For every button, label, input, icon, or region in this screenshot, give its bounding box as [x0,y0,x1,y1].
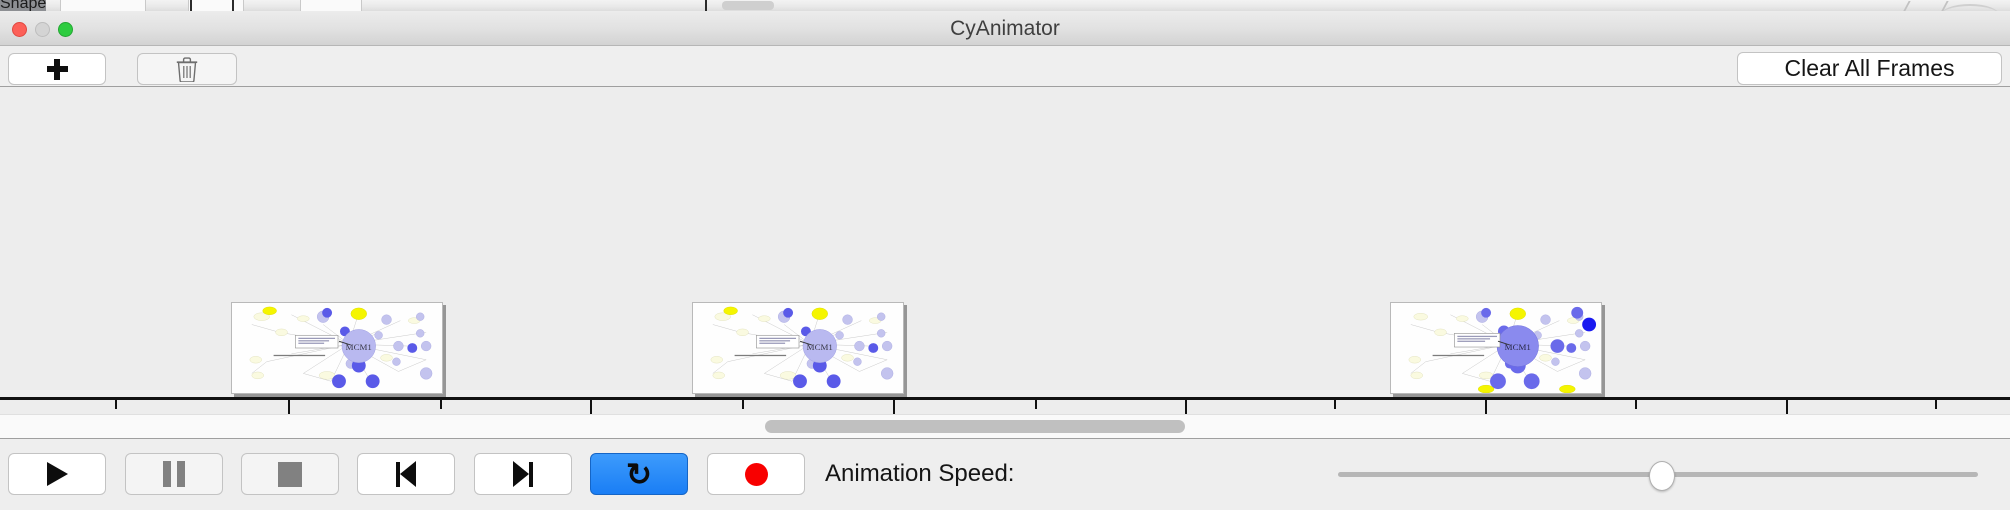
timeline-axis-line [0,397,2010,400]
background-panel-2 [188,0,244,11]
axis-major-tick [590,400,592,414]
background-scrollbar-thumb[interactable] [722,1,774,10]
animation-speed-thumb[interactable] [1649,461,1675,491]
axis-major-tick [1185,400,1187,414]
pause-icon [163,461,185,487]
loop-button[interactable]: ↻ [590,453,688,495]
clear-all-frames-label: Clear All Frames [1785,55,1955,82]
axis-major-tick [893,400,895,414]
axis-major-tick [288,400,290,414]
svg-text:MCM1: MCM1 [346,342,372,352]
network-thumbnail-3: MCM1 [1391,303,1601,393]
timeline-horizontal-scrollbar[interactable] [0,414,2010,439]
axis-minor-tick [1935,400,1937,409]
skip-to-start-icon [396,461,416,487]
background-panel-1 [60,0,146,11]
timeline-frame-1[interactable]: MCM1 [231,302,443,394]
background-panel-3 [300,0,362,11]
traffic-lights [12,22,73,37]
background-diagonal-1 [1903,1,1928,11]
axis-major-tick [1786,400,1788,414]
axis-minor-tick [1035,400,1037,409]
zoom-button[interactable] [58,22,73,37]
record-button[interactable] [707,453,805,495]
stop-button[interactable] [241,453,339,495]
minimize-button[interactable] [35,22,50,37]
background-window-strip: Shape [0,0,2010,11]
delete-frame-button[interactable] [137,53,237,85]
timeline-frame-2[interactable]: MCM1 [692,302,904,394]
playback-control-bar: ↻ Animation Speed: [0,440,2010,510]
axis-minor-tick [440,400,442,409]
animation-speed-slider[interactable] [1338,472,1978,477]
axis-minor-tick [742,400,744,409]
play-icon [47,462,68,486]
clear-all-frames-button[interactable]: Clear All Frames [1737,52,2002,85]
loop-icon: ↻ [626,459,652,490]
skip-to-end-button[interactable] [474,453,572,495]
trash-icon [176,57,198,82]
window-title: CyAnimator [0,11,2010,46]
background-tick-2 [232,0,234,11]
svg-text:MCM1: MCM1 [807,342,833,352]
close-button[interactable] [12,22,27,37]
animation-speed-label: Animation Speed: [825,453,1014,495]
timeline-frame-3[interactable]: MCM1 [1390,302,1602,394]
skip-to-start-button[interactable] [357,453,455,495]
background-tick-1 [190,0,192,11]
axis-minor-tick [115,400,117,409]
axis-minor-tick [1334,400,1336,409]
network-thumbnail-1: MCM1 [232,303,442,393]
svg-text:MCM1: MCM1 [1505,342,1531,352]
add-frame-button[interactable] [8,53,106,85]
toolbar: Clear All Frames [0,46,2010,87]
timeline-panel[interactable]: MCM1 [0,87,2010,414]
background-window-label: Shape [0,0,46,11]
play-button[interactable] [8,453,106,495]
record-icon [745,463,768,486]
stop-icon [278,462,302,487]
background-tick-3 [705,0,707,11]
title-bar: CyAnimator [0,11,2010,46]
pause-button[interactable] [125,453,223,495]
cyanimator-window: Shape CyAnimator Clear All Fr [0,0,2010,510]
skip-to-end-icon [513,461,533,487]
axis-major-tick [1485,400,1487,414]
network-thumbnail-2: MCM1 [693,303,903,393]
axis-minor-tick [1635,400,1637,409]
plus-icon [47,59,68,80]
scrollbar-thumb[interactable] [765,420,1185,433]
